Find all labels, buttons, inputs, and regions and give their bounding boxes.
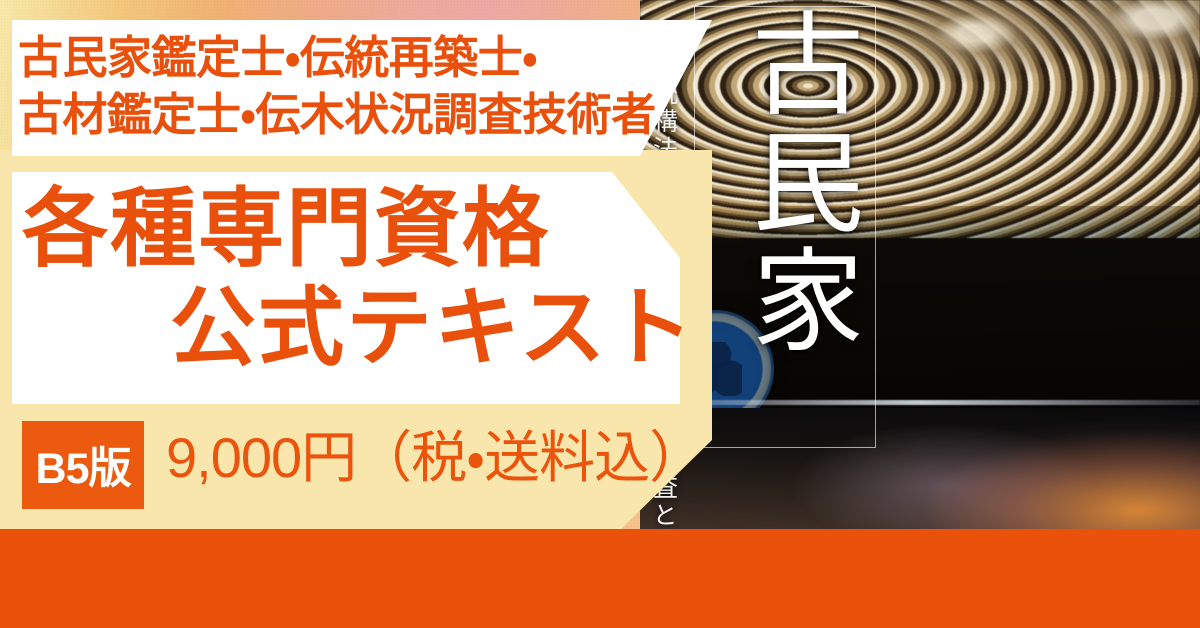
price-text: 9,000円（税・送料込）: [166, 430, 704, 486]
qualification-line-1: 古民家鑑定士・伝統再築士・: [18, 30, 718, 87]
promo-banner: 古民家 伝統構法 古民家活用のための調査と再生の 古民家鑑定士・伝統再築士・ 古…: [0, 0, 1200, 628]
qualification-headline: 古民家鑑定士・伝統再築士・ 古材鑑定士・伝木状況調査技術者: [18, 30, 718, 143]
format-badge: B5版: [22, 421, 144, 509]
qualification-line-2: 古材鑑定士・伝木状況調査技術者: [18, 87, 718, 144]
roof-tile-photo: 古民家 伝統構法 古民家活用のための調査と再生の: [640, 0, 1200, 540]
main-title-line-2: 公式テキスト: [170, 285, 695, 371]
book-cover-title: 古民家: [724, 6, 856, 360]
main-title-line-1: 各種専門資格: [22, 186, 550, 272]
cta-bar[interactable]: 詳細・ご購入はこちら: [0, 529, 1200, 628]
